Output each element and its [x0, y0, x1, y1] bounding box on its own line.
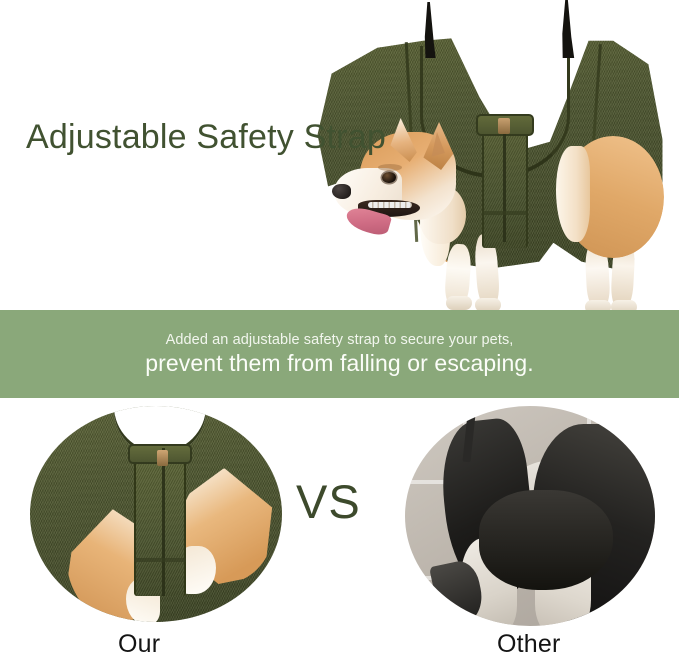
our-strap-stitch-bar [134, 558, 186, 562]
our-product-circle-image [30, 406, 282, 622]
other-hammock-center-panel [479, 490, 613, 590]
dog-teeth [368, 202, 412, 208]
dog-eye [382, 172, 396, 183]
strap-zipper-track [503, 118, 506, 242]
banner-text-line-2: prevent them from falling or escaping. [145, 350, 534, 377]
dog-brow-marking [378, 164, 402, 171]
vs-divider-label: VS [296, 474, 361, 529]
strap-stitch-bar [482, 211, 528, 215]
dog-paw-1 [446, 296, 472, 310]
hero-section: Adjustable Safety Strap [0, 0, 679, 310]
dog-rear-fur-highlight [556, 146, 590, 242]
banner-text-line-1: Added an adjustable safety strap to secu… [166, 332, 514, 348]
zipper-pull-icon [498, 118, 510, 134]
caption-our: Our [118, 630, 160, 659]
dog-paw-4 [611, 300, 637, 310]
comparison-section [0, 398, 679, 670]
dog-paw-2 [475, 298, 501, 310]
our-zipper-pull-icon [157, 450, 168, 466]
our-center-strap [134, 450, 186, 596]
our-strap-zipper-track [162, 448, 165, 596]
feature-banner: Added an adjustable safety strap to secu… [0, 310, 679, 398]
caption-other: Other [497, 630, 561, 659]
dog-nose [332, 184, 351, 199]
page-title: Adjustable Safety Strap [26, 118, 386, 157]
dog-paw-3 [585, 300, 611, 310]
other-product-circle-image [405, 406, 655, 626]
